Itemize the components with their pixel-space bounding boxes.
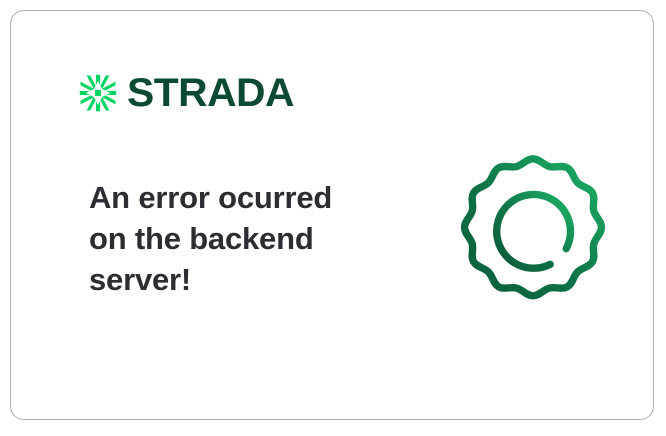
error-card: STRADA An error ocurred on the backend s…: [10, 10, 654, 420]
error-screen: STRADA An error ocurred on the backend s…: [0, 0, 666, 436]
gear-cog-icon: [451, 149, 615, 313]
brand-logo: STRADA: [79, 73, 291, 113]
error-message-line-2: on the backend: [89, 218, 389, 259]
brand-wordmark: STRADA: [127, 73, 294, 113]
strada-asterisk-icon: [79, 74, 117, 112]
error-message-line-1: An error ocurred: [89, 177, 389, 218]
error-message: An error ocurred on the backend server!: [89, 177, 389, 300]
error-message-line-3: server!: [89, 259, 389, 300]
